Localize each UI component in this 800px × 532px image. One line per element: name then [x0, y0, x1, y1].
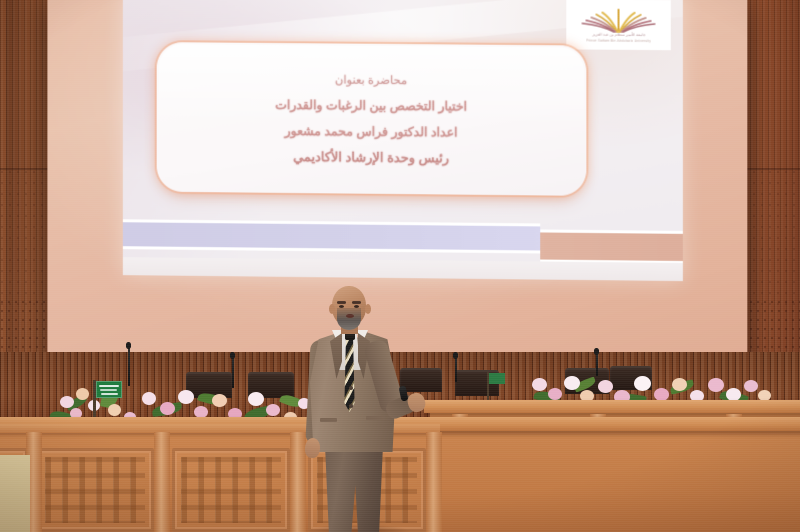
open-book-logo-icon [580, 6, 656, 33]
university-logo: جامعة الأمير سطام بن عبد العزيز Prince S… [566, 0, 671, 50]
presenter-trousers [321, 444, 387, 532]
microphone-stem [455, 356, 457, 382]
small-green-flag [489, 373, 505, 384]
presenter-left-hand [304, 437, 321, 458]
saudi-flag [96, 381, 122, 398]
wall-pillar-right [740, 0, 800, 370]
logo-english-name: Prince Sattam Bin Abdulaziz University [586, 39, 651, 43]
dais-upper-countertop [424, 400, 800, 413]
projected-slide: جامعة الأمير سطام بن عبد العزيز Prince S… [123, 0, 683, 281]
microphone-head [594, 348, 599, 355]
chair [610, 366, 652, 390]
dais-pilaster [154, 432, 170, 532]
stage-floor [0, 455, 30, 532]
presenter-jacket-pocket [320, 418, 337, 422]
slide-salmon-band [540, 229, 683, 265]
lecture-hall-photo: جامعة الأمير سطام بن عبد العزيز Prince S… [0, 0, 800, 532]
presenter-jacket-button [349, 404, 353, 408]
slide-line-4-role: رئيس وحدة الإرشاد الأكاديمي [293, 149, 449, 166]
microphone-stem [128, 346, 130, 386]
presenter-beard [337, 308, 361, 330]
slide-line-2-lecture-title: اختيار التخصص بين الرغبات والقدرات [275, 96, 467, 113]
presenter-eyebrow [352, 301, 361, 304]
presenter-mouth [346, 314, 354, 318]
microphone-head [453, 352, 458, 359]
presenter-eyebrow [337, 301, 346, 304]
slide-line-1: محاضرة بعنوان [335, 72, 407, 87]
logo-arabic-name: جامعة الأمير سطام بن عبد العزيز [592, 34, 645, 38]
presenter-jacket-button [349, 386, 353, 390]
slide-text-block: محاضرة بعنوان اختيار التخصص بين الرغبات … [157, 42, 587, 196]
chair [248, 372, 294, 398]
presenter-ear [365, 304, 371, 314]
presenter [296, 286, 431, 532]
dais-panel [36, 448, 154, 532]
chair [565, 368, 609, 394]
microphone-stem [232, 356, 234, 388]
slide-line-3-author: اعداد الدكتور فراس محمد مشعور [285, 123, 458, 140]
presenter-jacket-pocket [366, 416, 383, 420]
slide-title-card: محاضرة بعنوان اختيار التخصص بين الرغبات … [157, 42, 587, 196]
microphone-head [230, 352, 235, 359]
microphone-stem [596, 352, 598, 376]
chair [186, 372, 232, 398]
slide-lavender-band [123, 219, 540, 253]
microphone-head [126, 342, 131, 349]
dais-panel [172, 448, 290, 532]
presenter-ear [329, 304, 335, 314]
